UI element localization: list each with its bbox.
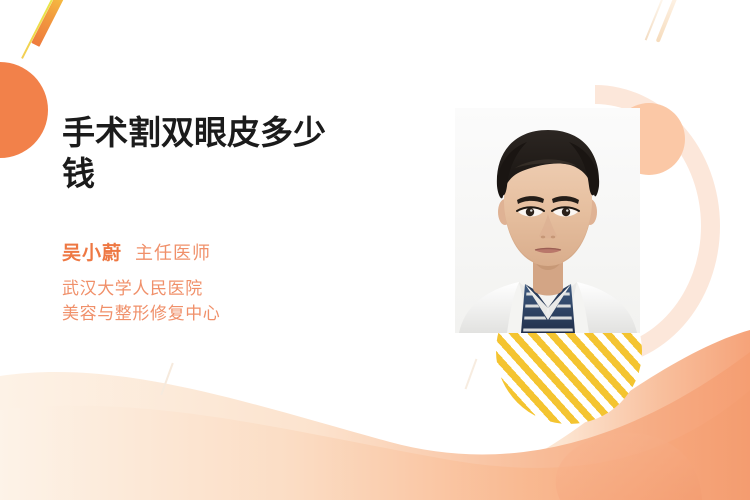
doctor-affiliation: 武汉大学人民医院 美容与整形修复中心 — [62, 276, 432, 326]
bottom-wave-decoration — [0, 330, 750, 500]
peach-diagonal-stroke-thin-icon — [645, 0, 666, 41]
doctor-meta-row: 吴小蔚 主任医师 — [62, 238, 432, 265]
doctor-role: 主任医师 — [135, 239, 211, 265]
peach-diagonal-stroke-icon — [656, 0, 681, 43]
doctor-name: 吴小蔚 — [62, 238, 122, 265]
doctor-info-card: 手术割双眼皮多少 钱 吴小蔚 主任医师 武汉大学人民医院 美容与整形修复中心 — [0, 0, 750, 500]
orange-circle-decoration — [0, 62, 48, 158]
doctor-portrait — [455, 108, 640, 333]
yellow-diagonal-stroke-icon — [21, 0, 53, 59]
page-title: 手术割双眼皮多少 钱 — [62, 112, 432, 194]
text-content-block: 手术割双眼皮多少 钱 吴小蔚 主任医师 武汉大学人民医院 美容与整形修复中心 — [62, 112, 432, 326]
orange-diagonal-stroke-icon — [31, 0, 65, 47]
